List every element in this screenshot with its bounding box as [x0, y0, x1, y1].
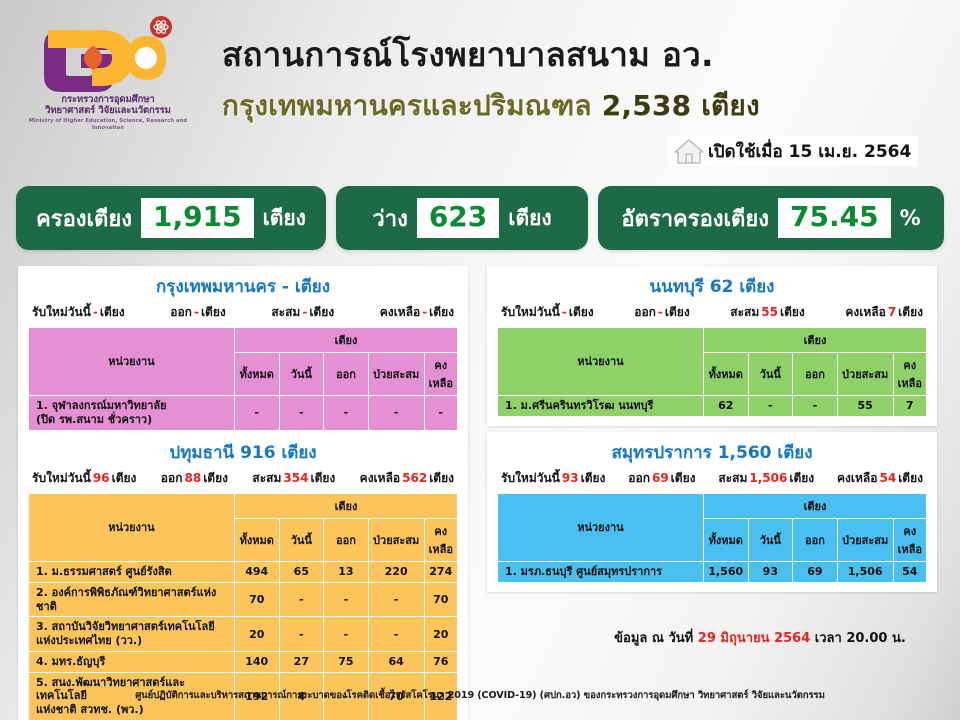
panel-samutprakan-stats: รับใหม่วันนี้93เตียง ออก69เตียง สะสม1,50… [497, 469, 927, 493]
cell-total: 70 [234, 582, 279, 617]
panel-samutprakan: สมุทรปราการ 1,560 เตียง รับใหม่วันนี้93เ… [487, 432, 937, 592]
open-date-badge: เปิดใช้เมื่อ 15 เม.ย. 2564 [668, 136, 918, 166]
stat-value: 69 [650, 471, 671, 485]
kpi-vacant-label: ว่าง [372, 201, 407, 236]
cell-today: - [279, 617, 324, 652]
cell-remaining: 54 [893, 562, 926, 583]
stat-label: รับใหม่วันนี้ [501, 305, 560, 319]
stat-unit: เตียง [581, 471, 606, 485]
col-total: ทั้งหมด [703, 519, 748, 562]
col-accumulated: ป่วยสะสม [837, 353, 893, 396]
cell-today: - [279, 396, 324, 431]
cell-accumulated: - [368, 582, 424, 617]
stat-remaining: คงเหลือ7เตียง [845, 303, 923, 322]
stat-new-today: รับใหม่วันนี้-เตียง [32, 303, 125, 322]
stat-accumulated: สะสม1,506เตียง [718, 469, 814, 488]
stat-label: สะสม [252, 471, 281, 485]
stat-unit: เตียง [898, 305, 923, 319]
stat-unit: เตียง [112, 471, 137, 485]
cell-today: 65 [279, 562, 324, 583]
panel-nonthaburi-title: นนทบุรี 62 เตียง [497, 273, 927, 300]
stat-label: ออก [161, 471, 183, 485]
col-unit: หน่วยงาน [498, 328, 704, 396]
stat-label: สะสม [718, 471, 747, 485]
cell-accumulated: - [368, 617, 424, 652]
stat-value: 96 [91, 471, 112, 485]
cell-unit: 1. ม.ธรรมศาสตร์ ศูนย์รังสิต [29, 562, 235, 583]
data-timestamp: ข้อมูล ณ วันที่ 29 มิถุนายน 2564 เวลา 20… [560, 627, 960, 648]
cell-remaining: 76 [424, 651, 457, 672]
stat-value: 354 [281, 471, 310, 485]
panel-pathumthani: ปทุมธานี 916 เตียง รับใหม่วันนี้96เตียง … [18, 432, 468, 720]
stat-value: 55 [759, 305, 780, 319]
data-stamp-time-label: เวลา [815, 631, 842, 646]
stat-label: รับใหม่วันนี้ [32, 471, 91, 485]
cell-today: 93 [748, 562, 793, 583]
panel-bangkok-title: กรุงเทพมหานคร - เตียง [28, 273, 458, 300]
stat-value: - [300, 305, 309, 319]
stat-unit: เตียง [789, 471, 814, 485]
table-row: 1. มรภ.ธนบุรี ศูนย์สมุทรปราการ 1,560 93 … [498, 562, 927, 583]
stat-out: ออก-เตียง [170, 303, 225, 322]
unit-line2: แห่งประเทศไทย (วว.) [36, 634, 142, 647]
cell-remaining: 7 [893, 396, 926, 417]
cell-discharged: - [324, 582, 369, 617]
cell-discharged: - [793, 396, 838, 417]
data-stamp-date: 29 มิถุนายน 2564 [698, 631, 810, 646]
col-accumulated: ป่วยสะสม [368, 353, 424, 396]
unit-line2: แห่งชาติ สวทช. (พว.) [36, 703, 144, 716]
stat-unit: เตียง [898, 471, 923, 485]
stat-value: 562 [400, 471, 429, 485]
stat-unit: เตียง [780, 305, 805, 319]
table-samutprakan: หน่วยงาน เตียง ทั้งหมด วันนี้ ออก ป่วยสะ… [497, 493, 927, 583]
col-beds-group: เตียง [234, 328, 457, 353]
stat-label: คงเหลือ [845, 305, 885, 319]
kpi-occupied-beds: ครองเตียง 1,915 เตียง [16, 186, 326, 250]
cell-total: 494 [234, 562, 279, 583]
stat-label: สะสม [271, 305, 300, 319]
cell-total: - [234, 396, 279, 431]
stat-label: ออก [634, 305, 656, 319]
stat-value: 1,506 [747, 471, 789, 485]
open-date-text: เปิดใช้เมื่อ 15 เม.ย. 2564 [708, 138, 911, 165]
col-today: วันนี้ [279, 519, 324, 562]
col-unit: หน่วยงาน [498, 494, 704, 562]
table-row: 1. จุฬาลงกรณ์มหาวิทยาลัย (ปิด รพ.สนาม ชั… [29, 396, 458, 431]
cell-total: 140 [234, 651, 279, 672]
cell-unit: 4. มทร.ธัญบุรี [29, 651, 235, 672]
stat-unit: เตียง [100, 305, 125, 319]
kpi-rate-value: 75.45 [778, 198, 891, 238]
table-header-row: หน่วยงาน เตียง [29, 494, 458, 519]
stat-value: 7 [886, 305, 898, 319]
stat-remaining: คงเหลือ562เตียง [360, 469, 454, 488]
stat-label: รับใหม่วันนี้ [501, 471, 560, 485]
col-unit: หน่วยงาน [29, 328, 235, 396]
panel-pathumthani-title: ปทุมธานี 916 เตียง [28, 439, 458, 466]
col-today: วันนี้ [748, 519, 793, 562]
stat-unit: เตียง [665, 305, 690, 319]
stat-value: 54 [878, 471, 899, 485]
logo-thai-line2: วิทยาศาสตร์ วิจัยและนวัตกรรม [22, 105, 194, 116]
stat-label: สะสม [730, 305, 759, 319]
cell-remaining: - [424, 396, 457, 431]
kpi-occupied-value: 1,915 [141, 198, 254, 238]
cell-total: 1,560 [703, 562, 748, 583]
stat-unit: เตียง [569, 305, 594, 319]
unit-line1: 1. จุฬาลงกรณ์มหาวิทยาลัย [36, 399, 167, 412]
logo-english-line: Ministry of Higher Education, Science, R… [22, 118, 194, 130]
col-accumulated: ป่วยสะสม [368, 519, 424, 562]
stat-new-today: รับใหม่วันนี้-เตียง [501, 303, 594, 322]
stat-value: - [560, 305, 569, 319]
col-beds-group: เตียง [703, 494, 926, 519]
col-discharged: ออก [324, 353, 369, 396]
table-row: 1. ม.ศรีนครินทรวิโรฒ นนทบุรี 62 - - 55 7 [498, 396, 927, 417]
cell-accumulated: 1,506 [837, 562, 893, 583]
stat-value: 93 [560, 471, 581, 485]
cell-accumulated: 220 [368, 562, 424, 583]
col-total: ทั้งหมด [234, 353, 279, 396]
stat-label: ออก [170, 305, 192, 319]
table-nonthaburi: หน่วยงาน เตียง ทั้งหมด วันนี้ ออก ป่วยสะ… [497, 327, 927, 417]
cell-today: - [748, 396, 793, 417]
unit-line2: (ปิด รพ.สนาม ชั่วคราว) [36, 413, 152, 426]
stat-out: ออก-เตียง [634, 303, 689, 322]
stat-label: รับใหม่วันนี้ [32, 305, 91, 319]
panel-nonthaburi: นนทบุรี 62 เตียง รับใหม่วันนี้-เตียง ออก… [487, 266, 937, 426]
stat-unit: เตียง [309, 305, 334, 319]
stat-unit: เตียง [671, 471, 696, 485]
stat-value: - [91, 305, 100, 319]
table-header-row: หน่วยงาน เตียง [498, 328, 927, 353]
panel-samutprakan-title: สมุทรปราการ 1,560 เตียง [497, 439, 927, 466]
page-subtitle-text: กรุงเทพมหานครและปริมณฑล [222, 89, 592, 122]
stat-value: - [192, 305, 201, 319]
cell-unit: 1. ม.ศรีนครินทรวิโรฒ นนทบุรี [498, 396, 704, 417]
panel-bangkok: กรุงเทพมหานคร - เตียง รับใหม่วันนี้-เตีย… [18, 266, 468, 440]
stat-label: ออก [628, 471, 650, 485]
stat-unit: เตียง [310, 471, 335, 485]
col-unit: หน่วยงาน [29, 494, 235, 562]
kpi-occupied-unit: เตียง [263, 202, 306, 235]
cell-discharged: 69 [793, 562, 838, 583]
kpi-vacant-beds: ว่าง 623 เตียง [336, 186, 588, 250]
cell-remaining: 20 [424, 617, 457, 652]
stat-label: คงเหลือ [837, 471, 877, 485]
cell-unit: 2. องค์การพิพิธภัณฑ์วิทยาศาสตร์แห่งชาติ [29, 582, 235, 617]
table-pathumthani: หน่วยงาน เตียง ทั้งหมด วันนี้ ออก ป่วยสะ… [28, 493, 458, 720]
col-total: ทั้งหมด [234, 519, 279, 562]
col-discharged: ออก [793, 519, 838, 562]
col-beds-group: เตียง [703, 328, 926, 353]
mhesi-logo: กระทรวงการอุดมศึกษา วิทยาศาสตร์ วิจัยและ… [22, 12, 194, 132]
mhesi-logo-mark [30, 16, 180, 94]
table-row: 2. องค์การพิพิธภัณฑ์วิทยาศาสตร์แห่งชาติ … [29, 582, 458, 617]
table-row: 4. มทร.ธัญบุรี 140 27 75 64 76 [29, 651, 458, 672]
cell-accumulated: 55 [837, 396, 893, 417]
cell-total: 20 [234, 617, 279, 652]
page-title: สถานการณ์โรงพยาบาลสนาม อว. [222, 28, 922, 81]
data-stamp-prefix: ข้อมูล ณ วันที่ [614, 631, 693, 646]
kpi-rate-label: อัตราครองเตียง [621, 201, 769, 236]
stat-label: คงเหลือ [380, 305, 420, 319]
cell-unit: 1. จุฬาลงกรณ์มหาวิทยาลัย (ปิด รพ.สนาม ชั… [29, 396, 235, 431]
page-header: กระทรวงการอุดมศึกษา วิทยาศาสตร์ วิจัยและ… [0, 0, 960, 180]
unit-line1: 3. สถาบันวิจัยวิทยาศาสตร์เทคโนโลยี [36, 620, 215, 633]
panel-pathumthani-stats: รับใหม่วันนี้96เตียง ออก88เตียง สะสม354เ… [28, 469, 458, 493]
cell-remaining: 274 [424, 562, 457, 583]
table-header-row: หน่วยงาน เตียง [29, 328, 458, 353]
col-beds-group: เตียง [234, 494, 457, 519]
stat-value: - [420, 305, 429, 319]
stat-new-today: รับใหม่วันนี้93เตียง [501, 469, 605, 488]
cell-discharged: 13 [324, 562, 369, 583]
stat-unit: เตียง [201, 305, 226, 319]
panel-bangkok-stats: รับใหม่วันนี้-เตียง ออก-เตียง สะสม-เตียง… [28, 303, 458, 327]
cell-remaining: 70 [424, 582, 457, 617]
kpi-vacant-value: 623 [417, 198, 499, 238]
kpi-vacant-unit: เตียง [508, 202, 551, 235]
stat-unit: เตียง [429, 305, 454, 319]
stat-out: ออก69เตียง [628, 469, 695, 488]
kpi-strip: ครองเตียง 1,915 เตียง ว่าง 623 เตียง อัต… [0, 186, 960, 250]
cell-discharged: - [324, 617, 369, 652]
cell-today: 27 [279, 651, 324, 672]
col-discharged: ออก [793, 353, 838, 396]
col-remaining: คงเหลือ [893, 519, 926, 562]
stat-remaining: คงเหลือ54เตียง [837, 469, 923, 488]
cell-accumulated: - [368, 396, 424, 431]
cell-today: - [279, 582, 324, 617]
house-icon [672, 137, 706, 165]
kpi-rate-unit: % [900, 206, 921, 230]
col-total: ทั้งหมด [703, 353, 748, 396]
stat-out: ออก88เตียง [161, 469, 228, 488]
col-today: วันนี้ [279, 353, 324, 396]
table-row: 3. สถาบันวิจัยวิทยาศาสตร์เทคโนโลยี แห่งป… [29, 617, 458, 652]
cell-accumulated: 64 [368, 651, 424, 672]
stat-label: คงเหลือ [360, 471, 400, 485]
stat-value: - [656, 305, 665, 319]
col-today: วันนี้ [748, 353, 793, 396]
cell-unit: 1. มรภ.ธนบุรี ศูนย์สมุทรปราการ [498, 562, 704, 583]
stat-unit: เตียง [203, 471, 228, 485]
stat-unit: เตียง [429, 471, 454, 485]
total-beds-value: 2,538 เตียง [602, 89, 760, 122]
stat-accumulated: สะสม-เตียง [271, 303, 334, 322]
panel-nonthaburi-stats: รับใหม่วันนี้-เตียง ออก-เตียง สะสม55เตีย… [497, 303, 927, 327]
cell-discharged: - [324, 396, 369, 431]
stat-value: 88 [182, 471, 203, 485]
stat-new-today: รับใหม่วันนี้96เตียง [32, 469, 136, 488]
col-remaining: คงเหลือ [424, 519, 457, 562]
cell-unit: 3. สถาบันวิจัยวิทยาศาสตร์เทคโนโลยี แห่งป… [29, 617, 235, 652]
logo-caption: กระทรวงการอุดมศึกษา วิทยาศาสตร์ วิจัยและ… [22, 94, 194, 131]
stat-accumulated: สะสม55เตียง [730, 303, 805, 322]
kpi-occupancy-rate: อัตราครองเตียง 75.45 % [598, 186, 944, 250]
logo-thai-line1: กระทรวงการอุดมศึกษา [22, 94, 194, 105]
col-remaining: คงเหลือ [424, 353, 457, 396]
kpi-occupied-label: ครองเตียง [36, 201, 132, 236]
col-discharged: ออก [324, 519, 369, 562]
page-subtitle: กรุงเทพมหานครและปริมณฑล 2,538 เตียง [222, 84, 922, 128]
stat-accumulated: สะสม354เตียง [252, 469, 335, 488]
stat-remaining: คงเหลือ-เตียง [380, 303, 454, 322]
cell-total: 62 [703, 396, 748, 417]
col-remaining: คงเหลือ [893, 353, 926, 396]
cell-discharged: 75 [324, 651, 369, 672]
table-bangkok: หน่วยงาน เตียง ทั้งหมด วันนี้ ออก ป่วยสะ… [28, 327, 458, 431]
table-row: 1. ม.ธรรมศาสตร์ ศูนย์รังสิต 494 65 13 22… [29, 562, 458, 583]
table-header-row: หน่วยงาน เตียง [498, 494, 927, 519]
col-accumulated: ป่วยสะสม [837, 519, 893, 562]
footer-note: ศูนย์ปฏิบัติการและบริหารสถานการณ์การระบา… [0, 688, 960, 703]
data-stamp-time: 20.00 น. [846, 631, 905, 646]
